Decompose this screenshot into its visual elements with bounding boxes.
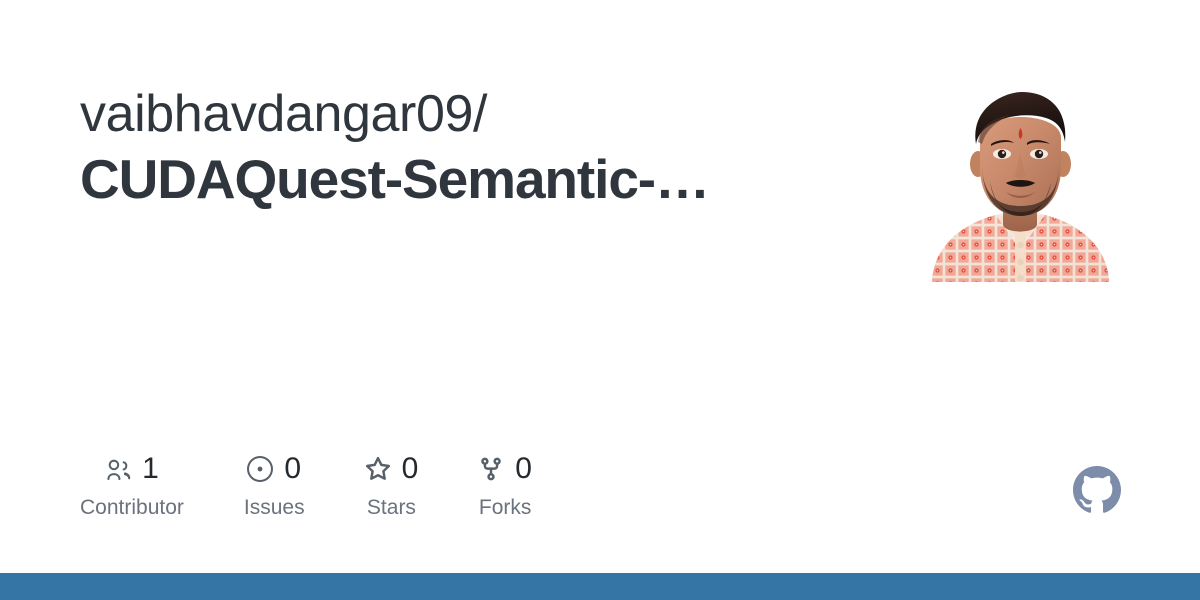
stat-issues-top: 0 <box>247 452 301 486</box>
stat-contributors: 1 Contributor <box>80 452 184 520</box>
avatar <box>918 82 1123 282</box>
stat-forks: 0 Forks <box>478 452 532 520</box>
people-icon <box>105 456 131 482</box>
issue-opened-icon <box>247 456 273 482</box>
repo-header: vaibhavdangar09/ CUDAQuest-Semantic-… <box>80 82 920 212</box>
stat-contributors-top: 1 <box>105 452 159 486</box>
bottom-accent-bar <box>0 573 1200 600</box>
stat-forks-top: 0 <box>478 452 532 486</box>
star-icon <box>365 456 391 482</box>
stat-stars-value: 0 <box>402 452 419 486</box>
stat-stars-label: Stars <box>367 495 416 520</box>
stat-forks-value: 0 <box>515 452 532 486</box>
stat-contributors-label: Contributor <box>80 495 184 520</box>
repo-owner: vaibhavdangar09/ <box>80 82 920 146</box>
stat-contributors-value: 1 <box>142 452 159 486</box>
stat-issues-value: 0 <box>284 452 301 486</box>
github-octocat-icon <box>1073 466 1121 514</box>
stat-stars-top: 0 <box>365 452 419 486</box>
repo-forked-icon <box>478 456 504 482</box>
repo-name: CUDAQuest-Semantic-… <box>80 146 825 212</box>
repo-social-preview-card: vaibhavdangar09/ CUDAQuest-Semantic-… <box>0 0 1200 600</box>
repo-stats: 1 Contributor 0 Issues <box>80 452 592 520</box>
stat-stars: 0 Stars <box>365 452 419 520</box>
stat-issues: 0 Issues <box>244 452 305 520</box>
stat-forks-label: Forks <box>479 495 532 520</box>
stat-issues-label: Issues <box>244 495 305 520</box>
avatar-photo <box>918 82 1123 282</box>
